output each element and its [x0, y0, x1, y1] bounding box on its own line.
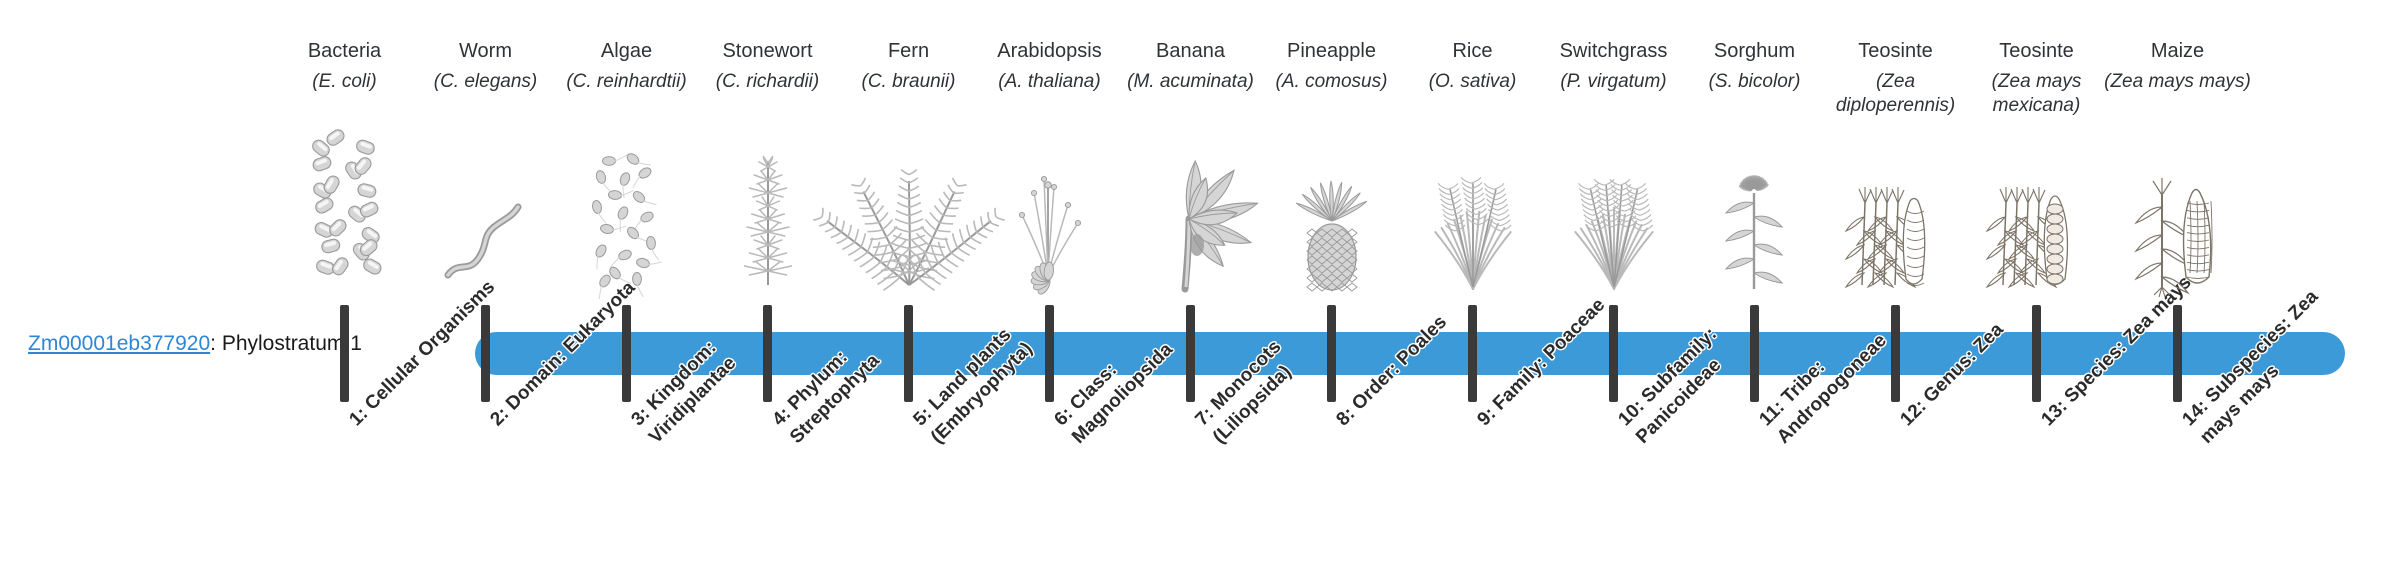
phylostratum-tick-mark[interactable] — [1891, 305, 1900, 402]
species-column: Banana (M. acuminata) — [1120, 0, 1261, 580]
species-common-name: Rice — [1394, 38, 1551, 64]
bacteria-illustration — [274, 168, 415, 293]
species-header: Fern (C. braunii) — [830, 38, 987, 94]
arabidopsis-illustration — [979, 168, 1120, 293]
species-latin-name: (C. richardii) — [689, 70, 846, 94]
species-header: Banana (M. acuminata) — [1112, 38, 1269, 94]
species-column: Bacteria (E. coli) — [274, 0, 415, 580]
phylostratum-tick-mark[interactable] — [1186, 305, 1195, 402]
species-header: Worm (C. elegans) — [407, 38, 564, 94]
species-common-name: Maize — [2099, 38, 2256, 64]
phylostratum-tick-mark[interactable] — [340, 305, 349, 402]
algae-illustration — [556, 168, 697, 293]
phylostratum-tick-mark[interactable] — [904, 305, 913, 402]
species-header: Switchgrass (P. virgatum) — [1535, 38, 1692, 94]
phylostratum-tick-mark[interactable] — [481, 305, 490, 402]
phylostratum-tick-mark[interactable] — [1750, 305, 1759, 402]
phylostratum-tick-mark[interactable] — [1468, 305, 1477, 402]
phylostratum-figure: Zm00001eb377920: Phylostratum 1 Bacteria… — [0, 0, 2400, 580]
species-latin-name: (A. thaliana) — [971, 70, 1128, 94]
species-common-name: Teosinte — [1958, 38, 2115, 64]
species-common-name: Sorghum — [1676, 38, 1833, 64]
worm-illustration — [415, 168, 556, 293]
species-common-name: Switchgrass — [1535, 38, 1692, 64]
phylostratum-tick-mark[interactable] — [763, 305, 772, 402]
species-header: Teosinte (Zea mays mexicana) — [1958, 38, 2115, 118]
pineapple-illustration — [1261, 168, 1402, 293]
phylostratum-tick-mark[interactable] — [2173, 305, 2182, 402]
species-header: Pineapple (A. comosus) — [1253, 38, 1410, 94]
species-latin-name: (Zea mays mexicana) — [1958, 70, 2115, 118]
species-latin-name: (M. acuminata) — [1112, 70, 1269, 94]
species-column: Sorghum (S. bicolor) — [1684, 0, 1825, 580]
species-header: Maize (Zea mays mays) — [2099, 38, 2256, 94]
rice-illustration — [1402, 168, 1543, 293]
species-header: Algae (C. reinhardtii) — [548, 38, 705, 94]
species-common-name: Stonewort — [689, 38, 846, 64]
species-header: Bacteria (E. coli) — [266, 38, 423, 94]
species-column: Worm (C. elegans) 2: Domain: Eukaryota — [415, 0, 556, 580]
species-common-name: Algae — [548, 38, 705, 64]
species-latin-name: (O. sativa) — [1394, 70, 1551, 94]
stonewort-illustration — [697, 168, 838, 293]
switchgrass-illustration — [1543, 168, 1684, 293]
phylostratum-tick-mark[interactable] — [1609, 305, 1618, 402]
phylostratum-tick-mark[interactable] — [2032, 305, 2041, 402]
species-column: Pineapple (A. comosus) 8: Order: Poales — [1261, 0, 1402, 580]
species-column: Teosinte (Zea diploperennis) 12: Genus: … — [1825, 0, 1966, 580]
species-column: Fern (C. braunii) — [838, 0, 979, 580]
species-latin-name: (C. reinhardtii) — [548, 70, 705, 94]
sorghum-illustration — [1684, 168, 1825, 293]
banana-illustration — [1120, 168, 1261, 293]
species-common-name: Pineapple — [1253, 38, 1410, 64]
teosinte-diploperennis-illustration — [1825, 168, 1966, 293]
species-header: Stonewort (C. richardii) — [689, 38, 846, 94]
species-latin-name: (Zea mays mays) — [2099, 70, 2256, 94]
phylostratum-tick-mark[interactable] — [622, 305, 631, 402]
teosinte-mexicana-illustration — [1966, 168, 2107, 293]
species-column: Maize (Zea mays mays) 14: Subspecies: Ze… — [2107, 0, 2248, 580]
species-common-name: Fern — [830, 38, 987, 64]
species-common-name: Bacteria — [266, 38, 423, 64]
maize-illustration — [2107, 168, 2248, 293]
phylostratum-tick-mark[interactable] — [1045, 305, 1054, 402]
species-column: Teosinte (Zea mays mexicana) 13: Species… — [1966, 0, 2107, 580]
species-header: Teosinte (Zea diploperennis) — [1817, 38, 1974, 118]
species-common-name: Arabidopsis — [971, 38, 1128, 64]
species-common-name: Banana — [1112, 38, 1269, 64]
species-latin-name: (Zea diploperennis) — [1817, 70, 1974, 118]
species-column: Rice (O. sativa) 9: Family: Poaceae — [1402, 0, 1543, 580]
species-header: Arabidopsis (A. thaliana) — [971, 38, 1128, 94]
species-latin-name: (P. virgatum) — [1535, 70, 1692, 94]
species-latin-name: (E. coli) — [266, 70, 423, 94]
species-latin-name: (A. comosus) — [1253, 70, 1410, 94]
fern-illustration — [838, 168, 979, 293]
species-header: Sorghum (S. bicolor) — [1676, 38, 1833, 94]
species-column: Stonewort (C. richardii) 4: Phylum: Stre… — [697, 0, 838, 580]
species-latin-name: (S. bicolor) — [1676, 70, 1833, 94]
species-column: Switchgrass (P. virgatum) 10: Subfamily:… — [1543, 0, 1684, 580]
species-latin-name: (C. braunii) — [830, 70, 987, 94]
phylostratum-tick-mark[interactable] — [1327, 305, 1336, 402]
species-column: Algae (C. reinhardtii) — [556, 0, 697, 580]
species-common-name: Teosinte — [1817, 38, 1974, 64]
species-latin-name: (C. elegans) — [407, 70, 564, 94]
species-header: Rice (O. sativa) — [1394, 38, 1551, 94]
species-common-name: Worm — [407, 38, 564, 64]
species-column: Arabidopsis (A. thaliana) — [979, 0, 1120, 580]
species-columns: Bacteria (E. coli) — [0, 0, 2400, 580]
